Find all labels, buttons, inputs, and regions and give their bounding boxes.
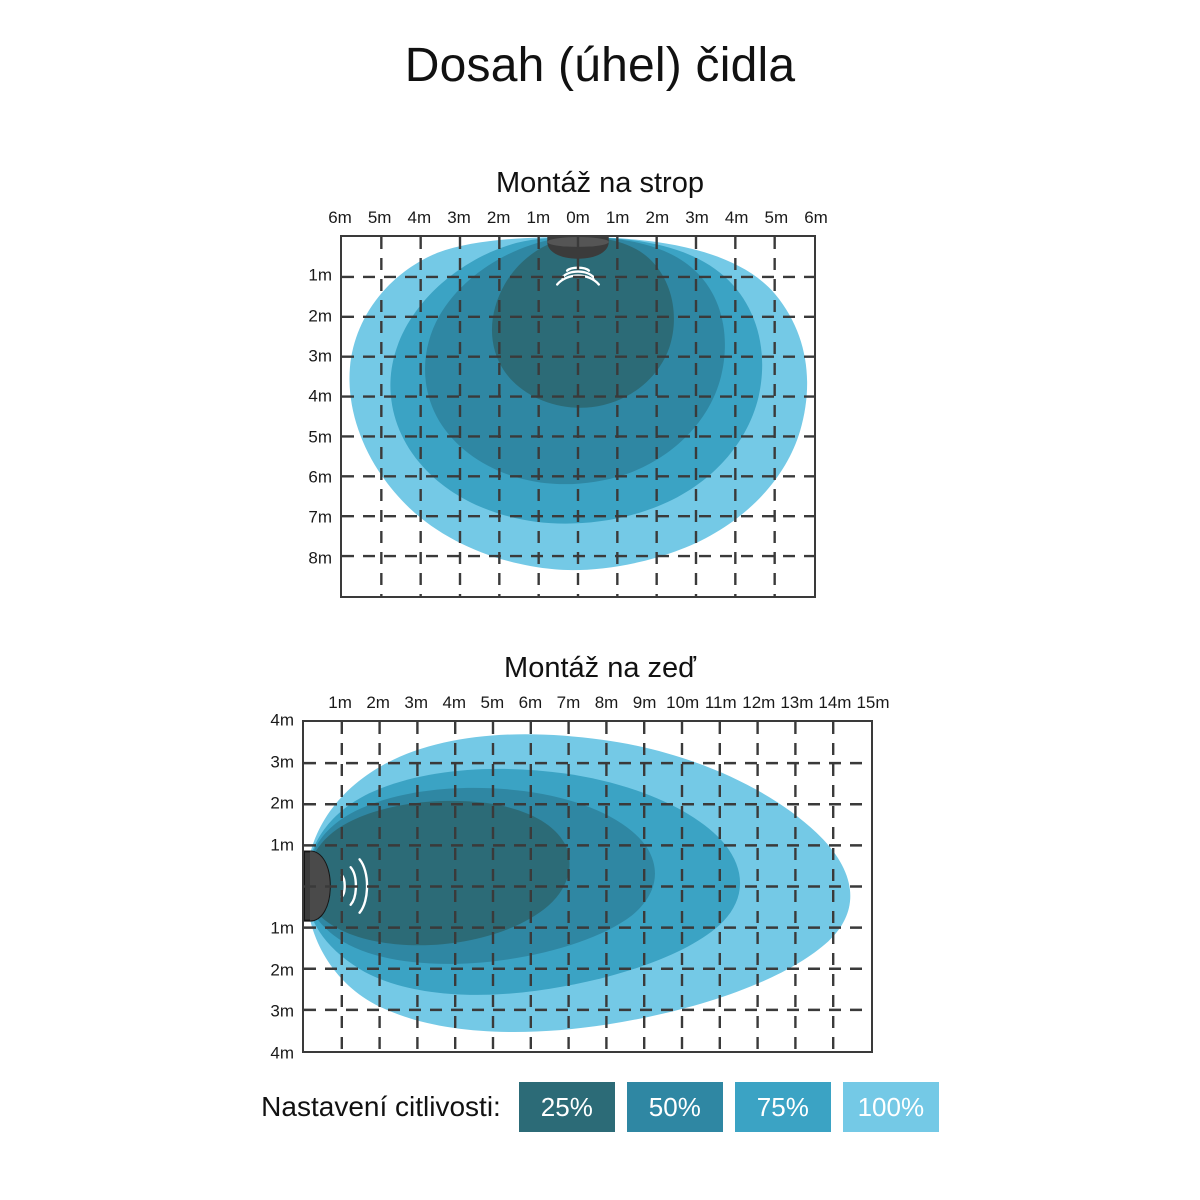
- ceiling-y-tick: 8m: [288, 549, 332, 566]
- ceiling-x-tick: 4m: [725, 209, 749, 226]
- wall-x-tick: 8m: [595, 694, 619, 711]
- ceiling-plot-area: [340, 235, 816, 598]
- wall-x-tick: 9m: [633, 694, 657, 711]
- ceiling-x-tick: 0m: [566, 209, 590, 226]
- ceiling-x-tick: 6m: [804, 209, 828, 226]
- wall-section-title: Montáž na zeď: [0, 652, 1200, 685]
- ceiling-x-tick: 2m: [487, 209, 511, 226]
- ceiling-y-tick: 4m: [288, 388, 332, 405]
- ceiling-x-tick: 3m: [685, 209, 709, 226]
- ceiling-y-tick: 7m: [288, 509, 332, 526]
- ceiling-x-tick: 1m: [606, 209, 630, 226]
- ceiling-detection-pattern: [342, 237, 814, 596]
- wall-x-tick: 11m: [705, 694, 737, 711]
- ceiling-y-tick: 2m: [288, 307, 332, 324]
- ceiling-x-tick: 1m: [527, 209, 551, 226]
- legend-swatch-label: 100%: [858, 1094, 925, 1120]
- page-root: Dosah (úhel) čidla Montáž na strop 6m5m4…: [0, 0, 1200, 1200]
- wall-x-tick: 13m: [780, 694, 813, 711]
- wall-x-tick: 3m: [404, 694, 428, 711]
- wall-y-tick: 2m: [250, 795, 294, 812]
- ceiling-x-tick: 3m: [447, 209, 471, 226]
- legend-swatch-75pct[interactable]: 75%: [735, 1082, 831, 1132]
- ceiling-y-tick: 6m: [288, 469, 332, 486]
- wall-y-tick: 4m: [250, 712, 294, 729]
- ceiling-section-title: Montáž na strop: [0, 167, 1200, 200]
- wall-x-tick: 1m: [328, 694, 352, 711]
- ceiling-x-tick: 6m: [328, 209, 352, 226]
- legend-swatch-25pct[interactable]: 25%: [519, 1082, 615, 1132]
- legend-label: Nastavení citlivosti:: [261, 1091, 501, 1123]
- wall-x-tick: 6m: [519, 694, 543, 711]
- legend-swatch-100pct[interactable]: 100%: [843, 1082, 939, 1132]
- wall-x-tick: 12m: [742, 694, 775, 711]
- wall-y-tick: 3m: [250, 1003, 294, 1020]
- wall-x-tick: 7m: [557, 694, 581, 711]
- wall-detection-pattern: [304, 722, 871, 1051]
- ceiling-y-tick: 1m: [288, 267, 332, 284]
- wall-y-tick: 1m: [250, 836, 294, 853]
- wall-plot-area: [302, 720, 873, 1053]
- wall-x-tick: 14m: [818, 694, 851, 711]
- wall-x-tick: 4m: [442, 694, 466, 711]
- ceiling-y-tick: 3m: [288, 348, 332, 365]
- wall-x-tick: 10m: [666, 694, 699, 711]
- ceiling-chart: 6m5m4m3m2m1m0m1m2m3m4m5m6m 1m2m3m4m5m6m7…: [340, 235, 816, 598]
- wall-y-tick: 1m: [250, 920, 294, 937]
- ceiling-x-tick: 5m: [765, 209, 789, 226]
- ceiling-x-tick: 2m: [646, 209, 670, 226]
- legend-swatch-group: 25%50%75%100%: [519, 1082, 939, 1132]
- ceiling-x-tick: 5m: [368, 209, 392, 226]
- wall-x-tick: 15m: [856, 694, 889, 711]
- sensitivity-legend: Nastavení citlivosti: 25%50%75%100%: [0, 1082, 1200, 1132]
- page-title: Dosah (úhel) čidla: [0, 38, 1200, 93]
- wall-y-tick: 2m: [250, 961, 294, 978]
- legend-swatch-label: 50%: [649, 1094, 701, 1120]
- wall-y-tick: 3m: [250, 753, 294, 770]
- ceiling-x-tick: 4m: [408, 209, 432, 226]
- wall-x-tick: 2m: [366, 694, 390, 711]
- legend-swatch-50pct[interactable]: 50%: [627, 1082, 723, 1132]
- legend-swatch-label: 25%: [541, 1094, 593, 1120]
- wall-y-tick: 4m: [250, 1045, 294, 1062]
- wall-chart: 1m2m3m4m5m6m7m8m9m10m11m12m13m14m15m 4m3…: [302, 720, 873, 1053]
- wall-x-tick: 5m: [481, 694, 505, 711]
- legend-swatch-label: 75%: [757, 1094, 809, 1120]
- ceiling-y-tick: 5m: [288, 428, 332, 445]
